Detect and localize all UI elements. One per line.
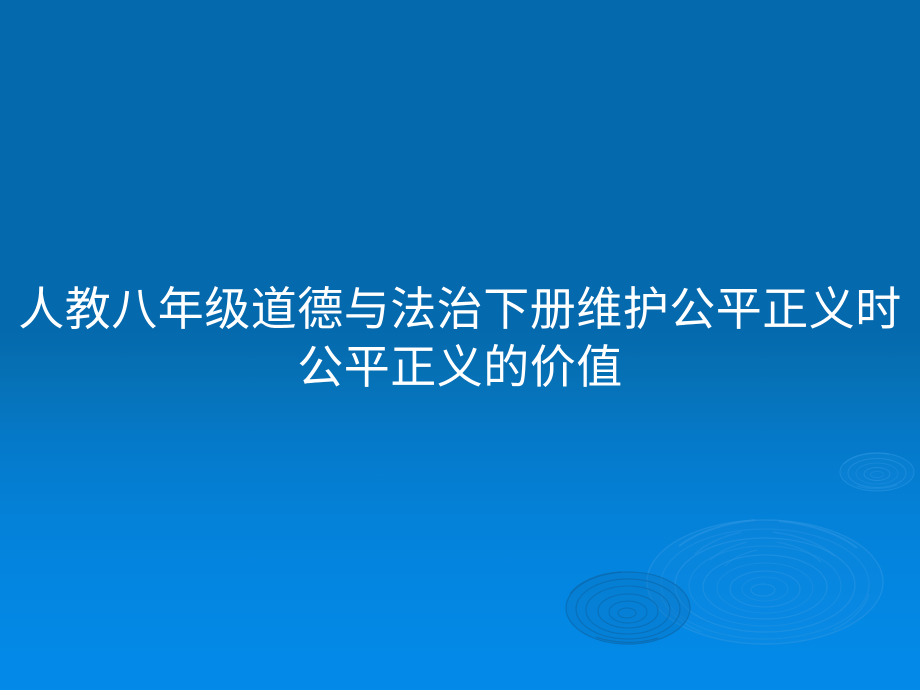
title-block: 人教八年级道德与法治下册维护公平正义时公平正义的价值 [0,280,920,396]
page-title: 人教八年级道德与法治下册维护公平正义时公平正义的价值 [0,280,920,396]
presentation-slide: .lr { fill: none; stroke: #2C95E2; strok… [0,0,920,690]
